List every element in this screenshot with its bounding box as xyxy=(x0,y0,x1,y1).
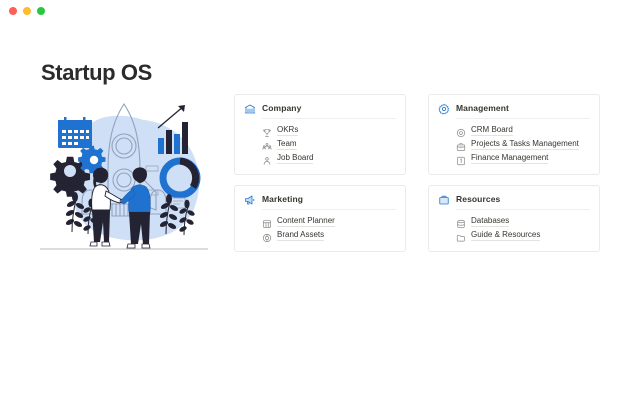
page-canvas: Startup OS xyxy=(0,22,640,400)
database-icon xyxy=(456,216,466,226)
megaphone-icon xyxy=(244,193,256,205)
list-item-team[interactable]: Team xyxy=(262,137,396,151)
card-resources: Resources Databases xyxy=(428,185,600,252)
page-title: Startup OS xyxy=(41,60,152,86)
calendar-graphic xyxy=(58,117,92,148)
card-title-company: Company xyxy=(262,103,301,113)
target-circle-icon xyxy=(456,125,466,135)
list-item-guide-resources[interactable]: Guide & Resources xyxy=(456,228,590,242)
card-divider xyxy=(262,118,396,119)
list-item-content-planner[interactable]: Content Planner xyxy=(262,214,396,228)
card-management: Management CRM Board xyxy=(428,94,600,175)
list-item-label: Databases xyxy=(471,215,509,227)
card-items-marketing: Content Planner Brand Assets xyxy=(244,214,396,242)
list-item-label: Finance Management xyxy=(471,152,548,164)
list-item-job-board[interactable]: Job Board xyxy=(262,151,396,165)
window-title-bar xyxy=(0,0,640,22)
card-header-company: Company xyxy=(244,102,396,118)
list-item-projects-tasks-management[interactable]: Projects & Tasks Management xyxy=(456,137,590,151)
card-divider xyxy=(456,209,590,210)
maximize-button[interactable] xyxy=(37,7,45,15)
list-item-brand-assets[interactable]: Brand Assets xyxy=(262,228,396,242)
numbered-list-icon xyxy=(456,153,466,163)
card-title-marketing: Marketing xyxy=(262,194,303,204)
list-item-label: Job Board xyxy=(277,152,313,164)
startup-team-rocket-illustration xyxy=(34,92,214,267)
card-divider xyxy=(262,209,396,210)
bank-building-icon xyxy=(244,102,256,114)
database-card-grid: Company OKRs xyxy=(234,94,610,252)
close-button[interactable] xyxy=(9,7,17,15)
card-marketing: Marketing Content Planner xyxy=(234,185,406,252)
list-item-crm-board[interactable]: CRM Board xyxy=(456,123,590,137)
trophy-icon xyxy=(262,125,272,135)
folder-icon xyxy=(456,230,466,240)
card-company: Company OKRs xyxy=(234,94,406,175)
card-divider xyxy=(456,118,590,119)
people-group-icon xyxy=(262,139,272,149)
list-item-label: Guide & Resources xyxy=(471,229,540,241)
person-icon xyxy=(262,153,272,163)
briefcase-icon xyxy=(456,139,466,149)
card-items-management: CRM Board Projects & Tasks Management xyxy=(438,123,590,165)
card-items-company: OKRs Team xyxy=(244,123,396,165)
gear-icon xyxy=(438,102,450,114)
card-header-management: Management xyxy=(438,102,590,118)
list-item-okrs[interactable]: OKRs xyxy=(262,123,396,137)
list-item-label: OKRs xyxy=(277,124,298,136)
minimize-button[interactable] xyxy=(23,7,31,15)
color-palette-icon xyxy=(262,230,272,240)
card-items-resources: Databases Guide & Resources xyxy=(438,214,590,242)
traffic-light-group xyxy=(9,7,45,15)
card-header-resources: Resources xyxy=(438,193,590,209)
list-item-label: Projects & Tasks Management xyxy=(471,138,579,150)
card-file-box-icon xyxy=(438,193,450,205)
card-title-resources: Resources xyxy=(456,194,500,204)
card-header-marketing: Marketing xyxy=(244,193,396,209)
list-item-label: Content Planner xyxy=(277,215,335,227)
card-title-management: Management xyxy=(456,103,509,113)
list-item-label: Brand Assets xyxy=(277,229,324,241)
list-item-finance-management[interactable]: Finance Management xyxy=(456,151,590,165)
list-item-databases[interactable]: Databases xyxy=(456,214,590,228)
calendar-table-icon xyxy=(262,216,272,226)
list-item-label: Team xyxy=(277,138,297,150)
list-item-label: CRM Board xyxy=(471,124,513,136)
